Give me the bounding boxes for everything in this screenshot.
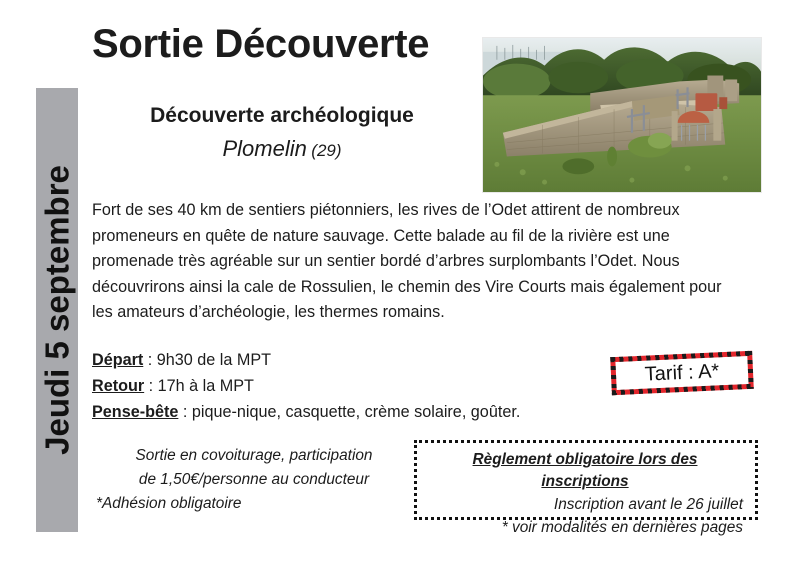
detail-row-depart: Départ : 9h30 de la MPT	[92, 347, 562, 373]
detail-value-retour: : 17h à la MPT	[144, 377, 254, 395]
tarif-stamp: Tarif : A*	[607, 348, 757, 399]
rules-title: Règlement obligatoire lors des inscripti…	[427, 449, 743, 493]
description-text: Fort de ses 40 km de sentiers piétonnier…	[92, 198, 724, 326]
tarif-stamp-border: Tarif : A*	[610, 351, 754, 395]
carpool-note: Sortie en covoiturage, participation de …	[96, 444, 412, 516]
location-department: (29)	[311, 141, 341, 160]
rules-footnote: * voir modalités en dernières pages	[427, 516, 743, 539]
description-paragraph: Fort de ses 40 km de sentiers piétonnier…	[92, 198, 724, 326]
date-band-label: Jeudi 5 septembre	[41, 165, 74, 455]
detail-key-pense-bete: Pense-bête	[92, 403, 178, 421]
detail-key-depart: Départ	[92, 351, 143, 369]
practical-details: Départ : 9h30 de la MPT Retour : 17h à l…	[92, 347, 562, 425]
tarif-label: Tarif : A*	[644, 360, 719, 386]
location-name: Plomelin	[222, 136, 306, 161]
detail-row-pense-bete: Pense-bête : pique-nique, casquette, crè…	[92, 399, 562, 425]
carpool-line-1: Sortie en covoiturage, participation	[96, 444, 412, 468]
rules-deadline: Inscription avant le 26 juillet	[427, 493, 743, 516]
ruins-photo-graphic	[483, 38, 761, 192]
detail-value-depart: : 9h30 de la MPT	[143, 351, 271, 369]
flyer-page: Jeudi 5 septembre Sortie Découverte Déco…	[0, 0, 794, 561]
ruins-photo	[482, 37, 762, 193]
detail-key-retour: Retour	[92, 377, 144, 395]
membership-note: *Adhésion obligatoire	[96, 492, 412, 516]
page-title: Sortie Découverte	[92, 23, 429, 65]
location-line: Plomelin (29)	[92, 136, 472, 162]
detail-row-retour: Retour : 17h à la MPT	[92, 373, 562, 399]
date-band: Jeudi 5 septembre	[36, 88, 78, 532]
subtitle: Découverte archéologique	[92, 104, 472, 128]
detail-value-pense-bete: : pique-nique, casquette, crème solaire,…	[178, 403, 520, 421]
carpool-line-2: de 1,50€/personne au conducteur	[96, 468, 412, 492]
registration-rules-box: Règlement obligatoire lors des inscripti…	[414, 440, 758, 520]
